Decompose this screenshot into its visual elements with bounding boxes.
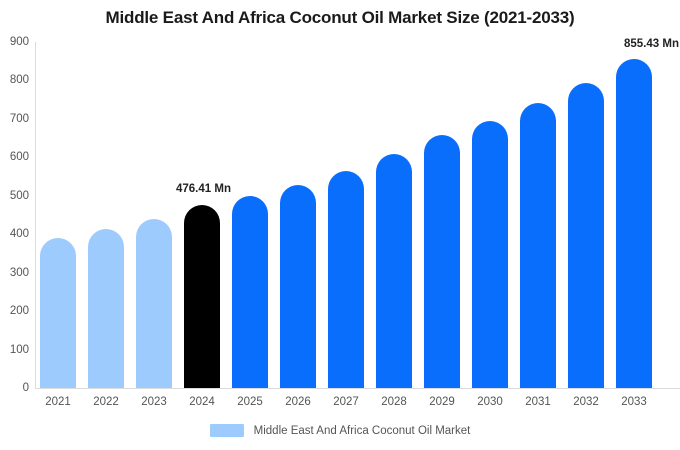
x-tick-2027: 2027 [322, 396, 370, 408]
bar-2028[interactable] [376, 154, 412, 388]
x-tick-2033: 2033 [610, 396, 658, 408]
bar-chart: Middle East And Africa Coconut Oil Marke… [0, 0, 680, 450]
bar-value-label-2024: 476.41 Mn [176, 183, 231, 195]
bar-2023[interactable] [136, 219, 172, 388]
x-tick-2024: 2024 [178, 396, 226, 408]
x-tick-2025: 2025 [226, 396, 274, 408]
x-tick-2021: 2021 [34, 396, 82, 408]
bar-2031[interactable] [520, 103, 556, 388]
bar-2029[interactable] [424, 135, 460, 388]
bar-2025[interactable] [232, 196, 268, 388]
bar-2033[interactable] [616, 59, 652, 388]
bar-2022[interactable] [88, 229, 124, 388]
x-tick-2022: 2022 [82, 396, 130, 408]
bar-2030[interactable] [472, 121, 508, 388]
legend-label-market: Middle East And Africa Coconut Oil Marke… [254, 425, 471, 437]
bar-value-label-2033: 855.43 Mn [624, 38, 679, 50]
bar-2032[interactable] [568, 83, 604, 388]
x-tick-2032: 2032 [562, 396, 610, 408]
bar-2021[interactable] [40, 238, 76, 388]
bars-layer [0, 0, 680, 450]
legend-swatch-market [210, 424, 244, 437]
bar-2027[interactable] [328, 171, 364, 388]
x-tick-2030: 2030 [466, 396, 514, 408]
x-tick-2026: 2026 [274, 396, 322, 408]
x-tick-2028: 2028 [370, 396, 418, 408]
chart-legend: Middle East And Africa Coconut Oil Marke… [0, 424, 680, 437]
x-tick-2029: 2029 [418, 396, 466, 408]
bar-2026[interactable] [280, 185, 316, 388]
bar-2024[interactable] [184, 205, 220, 388]
x-tick-2023: 2023 [130, 396, 178, 408]
x-tick-2031: 2031 [514, 396, 562, 408]
